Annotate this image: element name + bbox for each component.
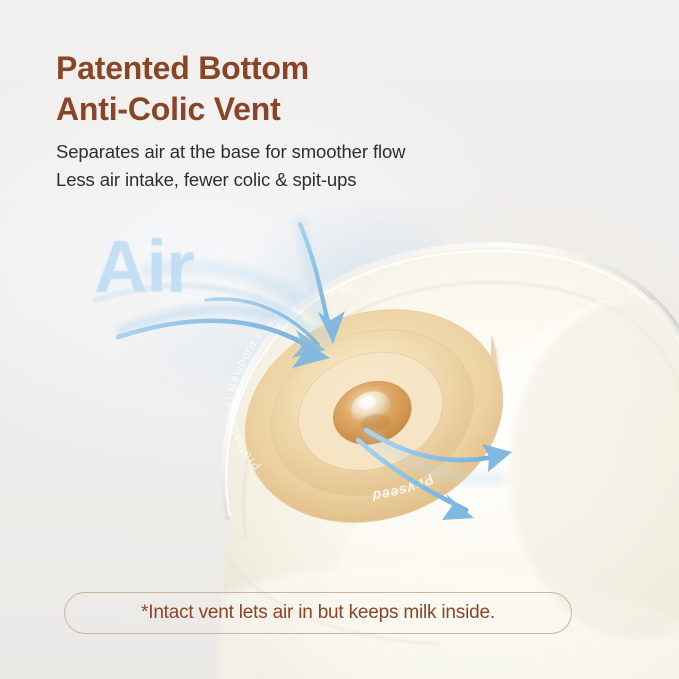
footnote-text: *Intact vent lets air in but keeps milk … <box>141 602 495 624</box>
bottle-illustration: Professional Newborn Feeding Bottle B6 P… <box>0 0 679 679</box>
footnote-pill: *Intact vent lets air in but keeps milk … <box>64 592 572 634</box>
product-feature-card: Patented Bottom Anti-Colic Vent Separate… <box>0 0 679 679</box>
